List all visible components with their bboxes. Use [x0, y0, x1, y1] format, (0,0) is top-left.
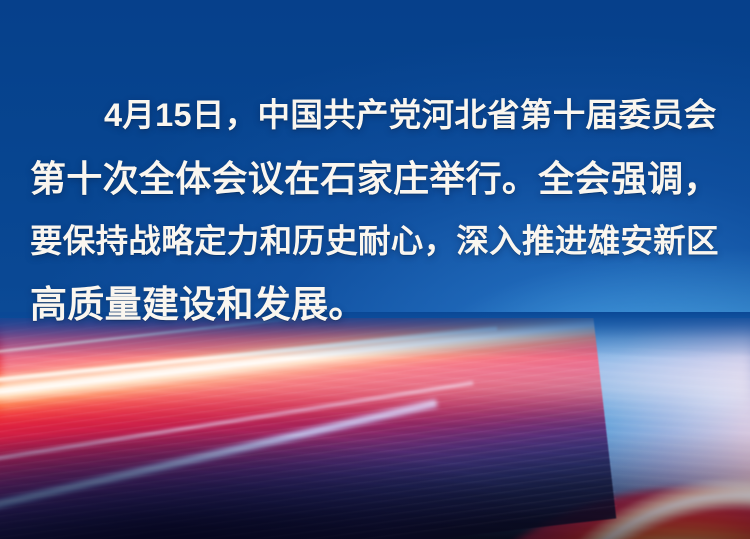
headline-block: 4月15日，中国共产党河北省第十届委员会 第十次全体会议在石家庄举行。全会强调，…	[0, 84, 750, 336]
headline-line-1: 4月15日，中国共产党河北省第十届委员会	[30, 84, 720, 147]
news-poster: 4月15日，中国共产党河北省第十届委员会 第十次全体会议在石家庄举行。全会强调，…	[0, 0, 750, 539]
headline-line-2: 第十次全体会议在石家庄举行。全会强调，	[30, 147, 720, 210]
speed-vignette	[0, 318, 750, 539]
headline-line-3: 要保持战略定力和历史耐心，深入推进雄安新区	[30, 210, 720, 273]
background-speed-light-field	[0, 318, 750, 539]
headline-line-4: 高质量建设和发展。	[30, 273, 720, 336]
